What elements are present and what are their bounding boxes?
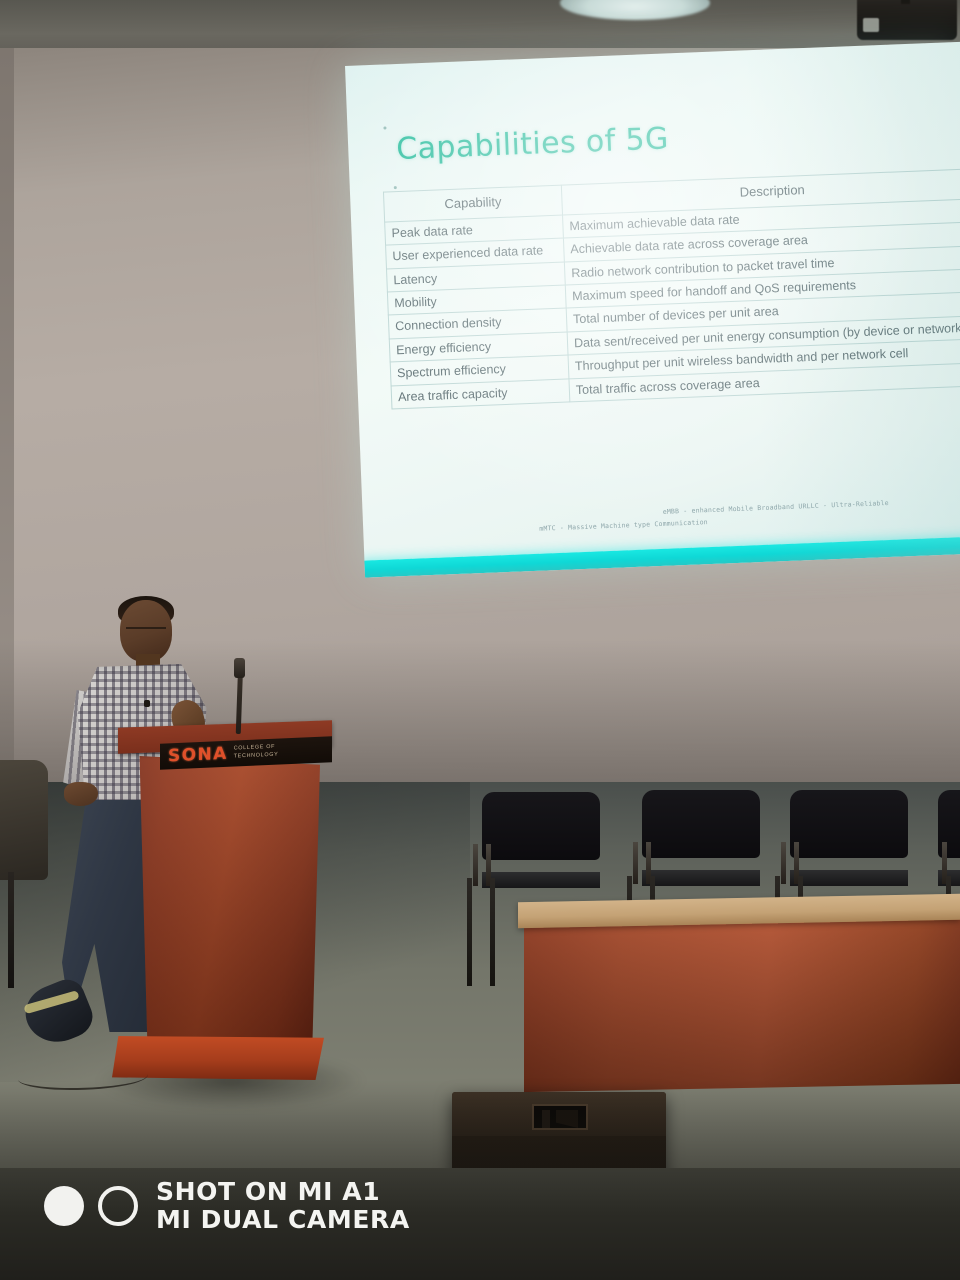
watermark-line-1: SHOT ON MI A1	[156, 1178, 410, 1206]
logo-sub-line-2: TECHNOLOGY	[234, 752, 279, 760]
sona-logo-subtitle: COLLEGE OF TECHNOLOGY	[234, 744, 279, 762]
camera-watermark: SHOT ON MI A1 MI DUAL CAMERA	[44, 1178, 410, 1234]
logo-sub-line-1: COLLEGE OF	[234, 744, 275, 752]
microphone-head-icon	[234, 658, 245, 678]
photo-scene: Capabilities of 5G Capability Descriptio…	[0, 0, 960, 1280]
filled-circle-icon	[44, 1186, 84, 1226]
podium-body	[128, 756, 320, 1046]
sona-logo-text: SONA	[168, 745, 228, 765]
outline-circle-icon	[98, 1186, 138, 1226]
speaker-shoe	[17, 974, 98, 1052]
watermark-line-2: MI DUAL CAMERA	[156, 1206, 410, 1234]
watermark-text: SHOT ON MI A1 MI DUAL CAMERA	[156, 1178, 410, 1234]
speaker-left-hand	[64, 782, 98, 806]
glasses-icon	[126, 627, 166, 636]
lapel-microphone-icon	[144, 700, 150, 707]
